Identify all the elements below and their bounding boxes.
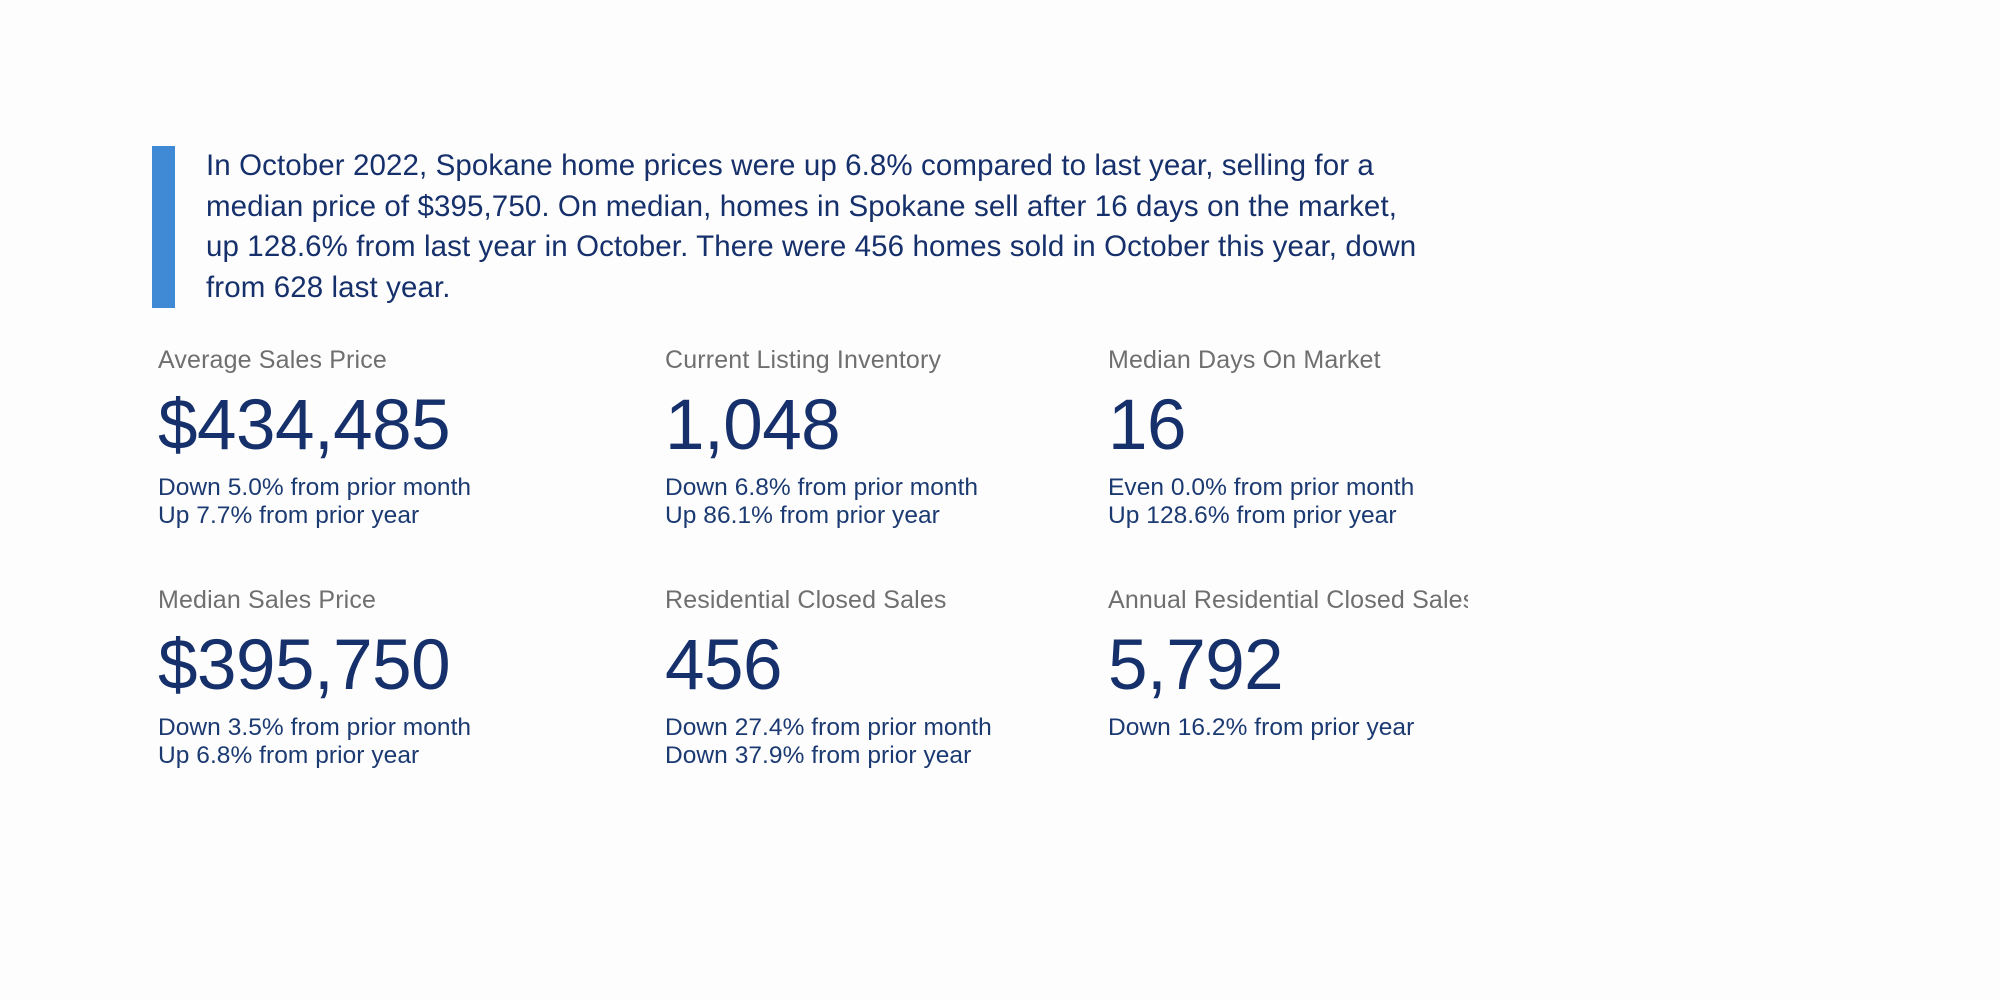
stat-card-current-listing-inventory: Current Listing Inventory 1,048 Down 6.8… xyxy=(665,345,1108,529)
stat-note-month: Even 0.0% from prior month xyxy=(1108,474,1468,502)
content-viewport: In October 2022, Spokane home prices wer… xyxy=(0,0,1468,1000)
stat-note-year: Up 128.6% from prior year xyxy=(1108,502,1468,530)
stat-card-median-sales-price: Median Sales Price $395,750 Down 3.5% fr… xyxy=(158,585,665,769)
stat-note-year: Down 16.2% from prior year xyxy=(1108,714,1468,742)
market-stats-page: In October 2022, Spokane home prices wer… xyxy=(0,0,2000,1000)
stat-notes: Down 16.2% from prior year xyxy=(1108,714,1468,742)
stat-card-annual-residential-closed-sales: Annual Residential Closed Sales 5,792 Do… xyxy=(1108,585,1468,742)
market-summary-text: In October 2022, Spokane home prices wer… xyxy=(175,146,1421,308)
stat-label: Average Sales Price xyxy=(158,345,665,375)
market-summary-blockquote: In October 2022, Spokane home prices wer… xyxy=(152,146,1468,308)
blockquote-accent-bar xyxy=(152,146,175,308)
stat-note-month: Down 27.4% from prior month xyxy=(665,714,1108,742)
stat-card-average-sales-price: Average Sales Price $434,485 Down 5.0% f… xyxy=(158,345,665,529)
stats-row: Median Sales Price $395,750 Down 3.5% fr… xyxy=(158,585,1468,769)
stat-note-year: Down 37.9% from prior year xyxy=(665,742,1108,770)
stat-note-month: Down 5.0% from prior month xyxy=(158,474,665,502)
stat-label: Median Days On Market xyxy=(1108,345,1468,375)
stat-value: $434,485 xyxy=(158,384,665,468)
stat-notes: Down 3.5% from prior month Up 6.8% from … xyxy=(158,714,665,769)
stats-grid: Average Sales Price $434,485 Down 5.0% f… xyxy=(158,345,1468,769)
stat-notes: Even 0.0% from prior month Up 128.6% fro… xyxy=(1108,474,1468,529)
stat-note-year: Up 7.7% from prior year xyxy=(158,502,665,530)
stat-card-residential-closed-sales: Residential Closed Sales 456 Down 27.4% … xyxy=(665,585,1108,769)
stat-value: 5,792 xyxy=(1108,624,1468,708)
stat-value: $395,750 xyxy=(158,624,665,708)
stat-value: 16 xyxy=(1108,384,1468,468)
stat-note-month: Down 6.8% from prior month xyxy=(665,474,1108,502)
stat-value: 1,048 xyxy=(665,384,1108,468)
stat-note-year: Up 6.8% from prior year xyxy=(158,742,665,770)
stat-label: Median Sales Price xyxy=(158,585,665,615)
stat-label: Current Listing Inventory xyxy=(665,345,1108,375)
stat-notes: Down 5.0% from prior month Up 7.7% from … xyxy=(158,474,665,529)
stats-row: Average Sales Price $434,485 Down 5.0% f… xyxy=(158,345,1468,529)
stat-notes: Down 27.4% from prior month Down 37.9% f… xyxy=(665,714,1108,769)
stat-note-year: Up 86.1% from prior year xyxy=(665,502,1108,530)
stat-notes: Down 6.8% from prior month Up 86.1% from… xyxy=(665,474,1108,529)
stat-label: Annual Residential Closed Sales xyxy=(1108,585,1468,615)
stat-label: Residential Closed Sales xyxy=(665,585,1108,615)
stat-note-month: Down 3.5% from prior month xyxy=(158,714,665,742)
stat-value: 456 xyxy=(665,624,1108,708)
stat-card-median-days-on-market: Median Days On Market 16 Even 0.0% from … xyxy=(1108,345,1468,529)
